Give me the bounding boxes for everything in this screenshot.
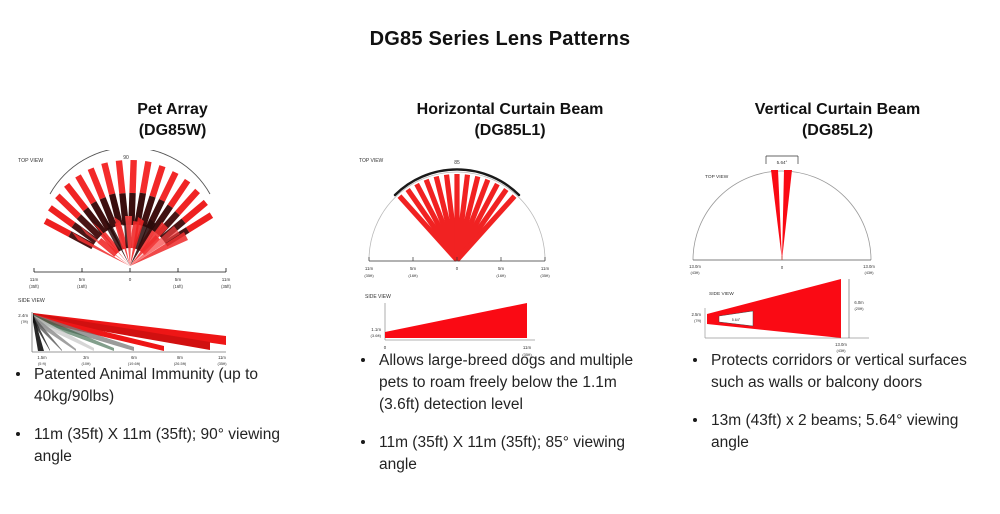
axis-tick-0: 11m <box>365 266 374 271</box>
side-tick-2: 6m <box>131 355 137 360</box>
top-view-axis: 11m (35ft) 5m (16ft) 0 5m (16ft) 11m (35… <box>29 268 231 289</box>
side-view-height-label: 2.4m <box>18 313 28 318</box>
side-tick-4: 11m <box>218 355 226 360</box>
list-item: 11m (35ft) X 11m (35ft); 85° viewing ang… <box>353 432 653 476</box>
list-item: 11m (35ft) X 11m (35ft); 90° viewing ang… <box>8 424 308 468</box>
side-tick-0: 1.5m <box>37 355 47 360</box>
axis-tick-4: 11m <box>541 266 550 271</box>
column-pet-array: Pet Array (DG85W) TOP VIEW 90 <box>0 92 345 514</box>
side-view-wedge <box>385 303 527 338</box>
diagram-horizontal-curtain: TOP VIEW 85 <box>355 148 560 363</box>
bullet-list-vertical-curtain: Protects corridors or vertical surfaces … <box>685 350 975 470</box>
diagram-pet-array: TOP VIEW 90 <box>14 150 246 370</box>
top-view-label: TOP VIEW <box>18 158 43 164</box>
heading-line-1: Pet Array <box>40 100 305 121</box>
column-heading-vertical-curtain: Vertical Curtain Beam (DG85L2) <box>675 92 1000 142</box>
axis-subtick-3: (16ft) <box>173 284 183 289</box>
side-view-end-label: 13.0m <box>835 342 847 347</box>
axis-tick-2: 0 <box>129 277 132 282</box>
axis-subtick-0: (35ft) <box>29 284 39 289</box>
side-view-label: SIDE VIEW <box>365 294 391 300</box>
top-view-angle-label: 85 <box>454 160 460 166</box>
page-title: DG85 Series Lens Patterns <box>0 28 1000 51</box>
axis-tick-2: 0 <box>456 266 459 271</box>
top-view-axis: 13.0m (43ft) 0 13.0m (43ft) <box>689 256 875 275</box>
column-heading-horizontal-curtain: Horizontal Curtain Beam (DG85L1) <box>345 92 675 142</box>
axis-tick-2: 13.0m <box>863 264 875 269</box>
column-vertical-curtain: Vertical Curtain Beam (DG85L2) TOP VIEW … <box>675 92 1000 514</box>
side-view-height-label: 1.1m <box>371 327 381 332</box>
top-view-beams <box>771 170 792 260</box>
axis-tick-3: 5m <box>175 277 182 282</box>
side-view-label: SIDE VIEW <box>18 298 45 304</box>
top-view-angle-label: 5.64° <box>777 160 788 165</box>
side-view-origin-label: 0 <box>384 345 387 350</box>
list-item: Allows large-breed dogs and multiple pet… <box>353 350 653 416</box>
side-view-end-label: 11m <box>523 345 532 350</box>
column-horizontal-curtain: Horizontal Curtain Beam (DG85L1) TOP VIE… <box>345 92 675 514</box>
axis-subtick-1: (16ft) <box>408 273 418 278</box>
inner-angle-label: 5.64° <box>732 318 741 322</box>
top-view-label: TOP VIEW <box>359 158 384 164</box>
heading-line-2: (DG85L1) <box>373 121 647 142</box>
side-view-wedge <box>707 279 841 338</box>
axis-tick-4: 11m <box>222 277 231 282</box>
top-view-beams <box>44 160 213 266</box>
axis-subtick-2: (43ft) <box>864 270 874 275</box>
axis-tick-1: 5m <box>410 266 416 271</box>
axis-subtick-0: (35ft) <box>364 273 374 278</box>
heading-line-1: Vertical Curtain Beam <box>693 100 982 121</box>
heading-line-2: (DG85L2) <box>693 121 982 142</box>
side-view-label: SIDE VIEW <box>709 291 734 297</box>
bullet-list-pet-array: Patented Animal Immunity (up to 40kg/90l… <box>8 364 308 484</box>
beam-right <box>782 170 792 260</box>
side-view-height-sublabel: (3.6ft) <box>371 333 382 338</box>
side-view-height-sublabel: (7ft) <box>694 318 702 323</box>
list-item: 13m (43ft) x 2 beams; 5.64° viewing angl… <box>685 410 975 454</box>
side-tick-1: 3m <box>83 355 89 360</box>
axis-tick-0: 13.0m <box>689 264 701 269</box>
side-tick-3: 8m <box>177 355 183 360</box>
axis-subtick-4: (35ft) <box>540 273 550 278</box>
axis-subtick-3: (16ft) <box>496 273 506 278</box>
axis-subtick-4: (35ft) <box>221 284 231 289</box>
list-item: Protects corridors or vertical surfaces … <box>685 350 975 394</box>
list-item: Patented Animal Immunity (up to 40kg/90l… <box>8 364 308 408</box>
slide-page: DG85 Series Lens Patterns Pet Array (DG8… <box>0 0 1000 514</box>
side-view-right-sublabel: (20ft) <box>854 306 864 311</box>
top-view-label: TOP VIEW <box>705 174 729 180</box>
heading-line-2: (DG85W) <box>40 121 305 142</box>
top-view-beams <box>398 174 517 262</box>
heading-line-1: Horizontal Curtain Beam <box>373 100 647 121</box>
side-view-beams <box>33 313 226 351</box>
side-view-height-sublabel: (7ft) <box>21 319 29 324</box>
axis-tick-1: 5m <box>79 277 86 282</box>
side-view-height-label: 2.5m <box>691 312 701 317</box>
axis-tick-3: 5m <box>498 266 504 271</box>
column-heading-pet-array: Pet Array (DG85W) <box>0 92 345 142</box>
axis-subtick-1: (16ft) <box>77 284 87 289</box>
top-view-angle-label: 90 <box>123 155 129 161</box>
columns-container: Pet Array (DG85W) TOP VIEW 90 <box>0 92 1000 514</box>
diagram-vertical-curtain: TOP VIEW 5.64° <box>683 148 893 363</box>
bullet-list-horizontal-curtain: Allows large-breed dogs and multiple pet… <box>353 350 653 492</box>
side-view-right-label: 6.0m <box>854 300 864 305</box>
axis-tick-1: 0 <box>781 265 784 270</box>
axis-tick-0: 11m <box>30 277 39 282</box>
beam-left <box>771 170 782 260</box>
top-view-axis: 11m (35ft) 5m (16ft) 0 5m (16ft) 11m (35… <box>364 257 550 278</box>
axis-subtick-0: (43ft) <box>690 270 700 275</box>
top-view-semicircle <box>693 171 871 260</box>
